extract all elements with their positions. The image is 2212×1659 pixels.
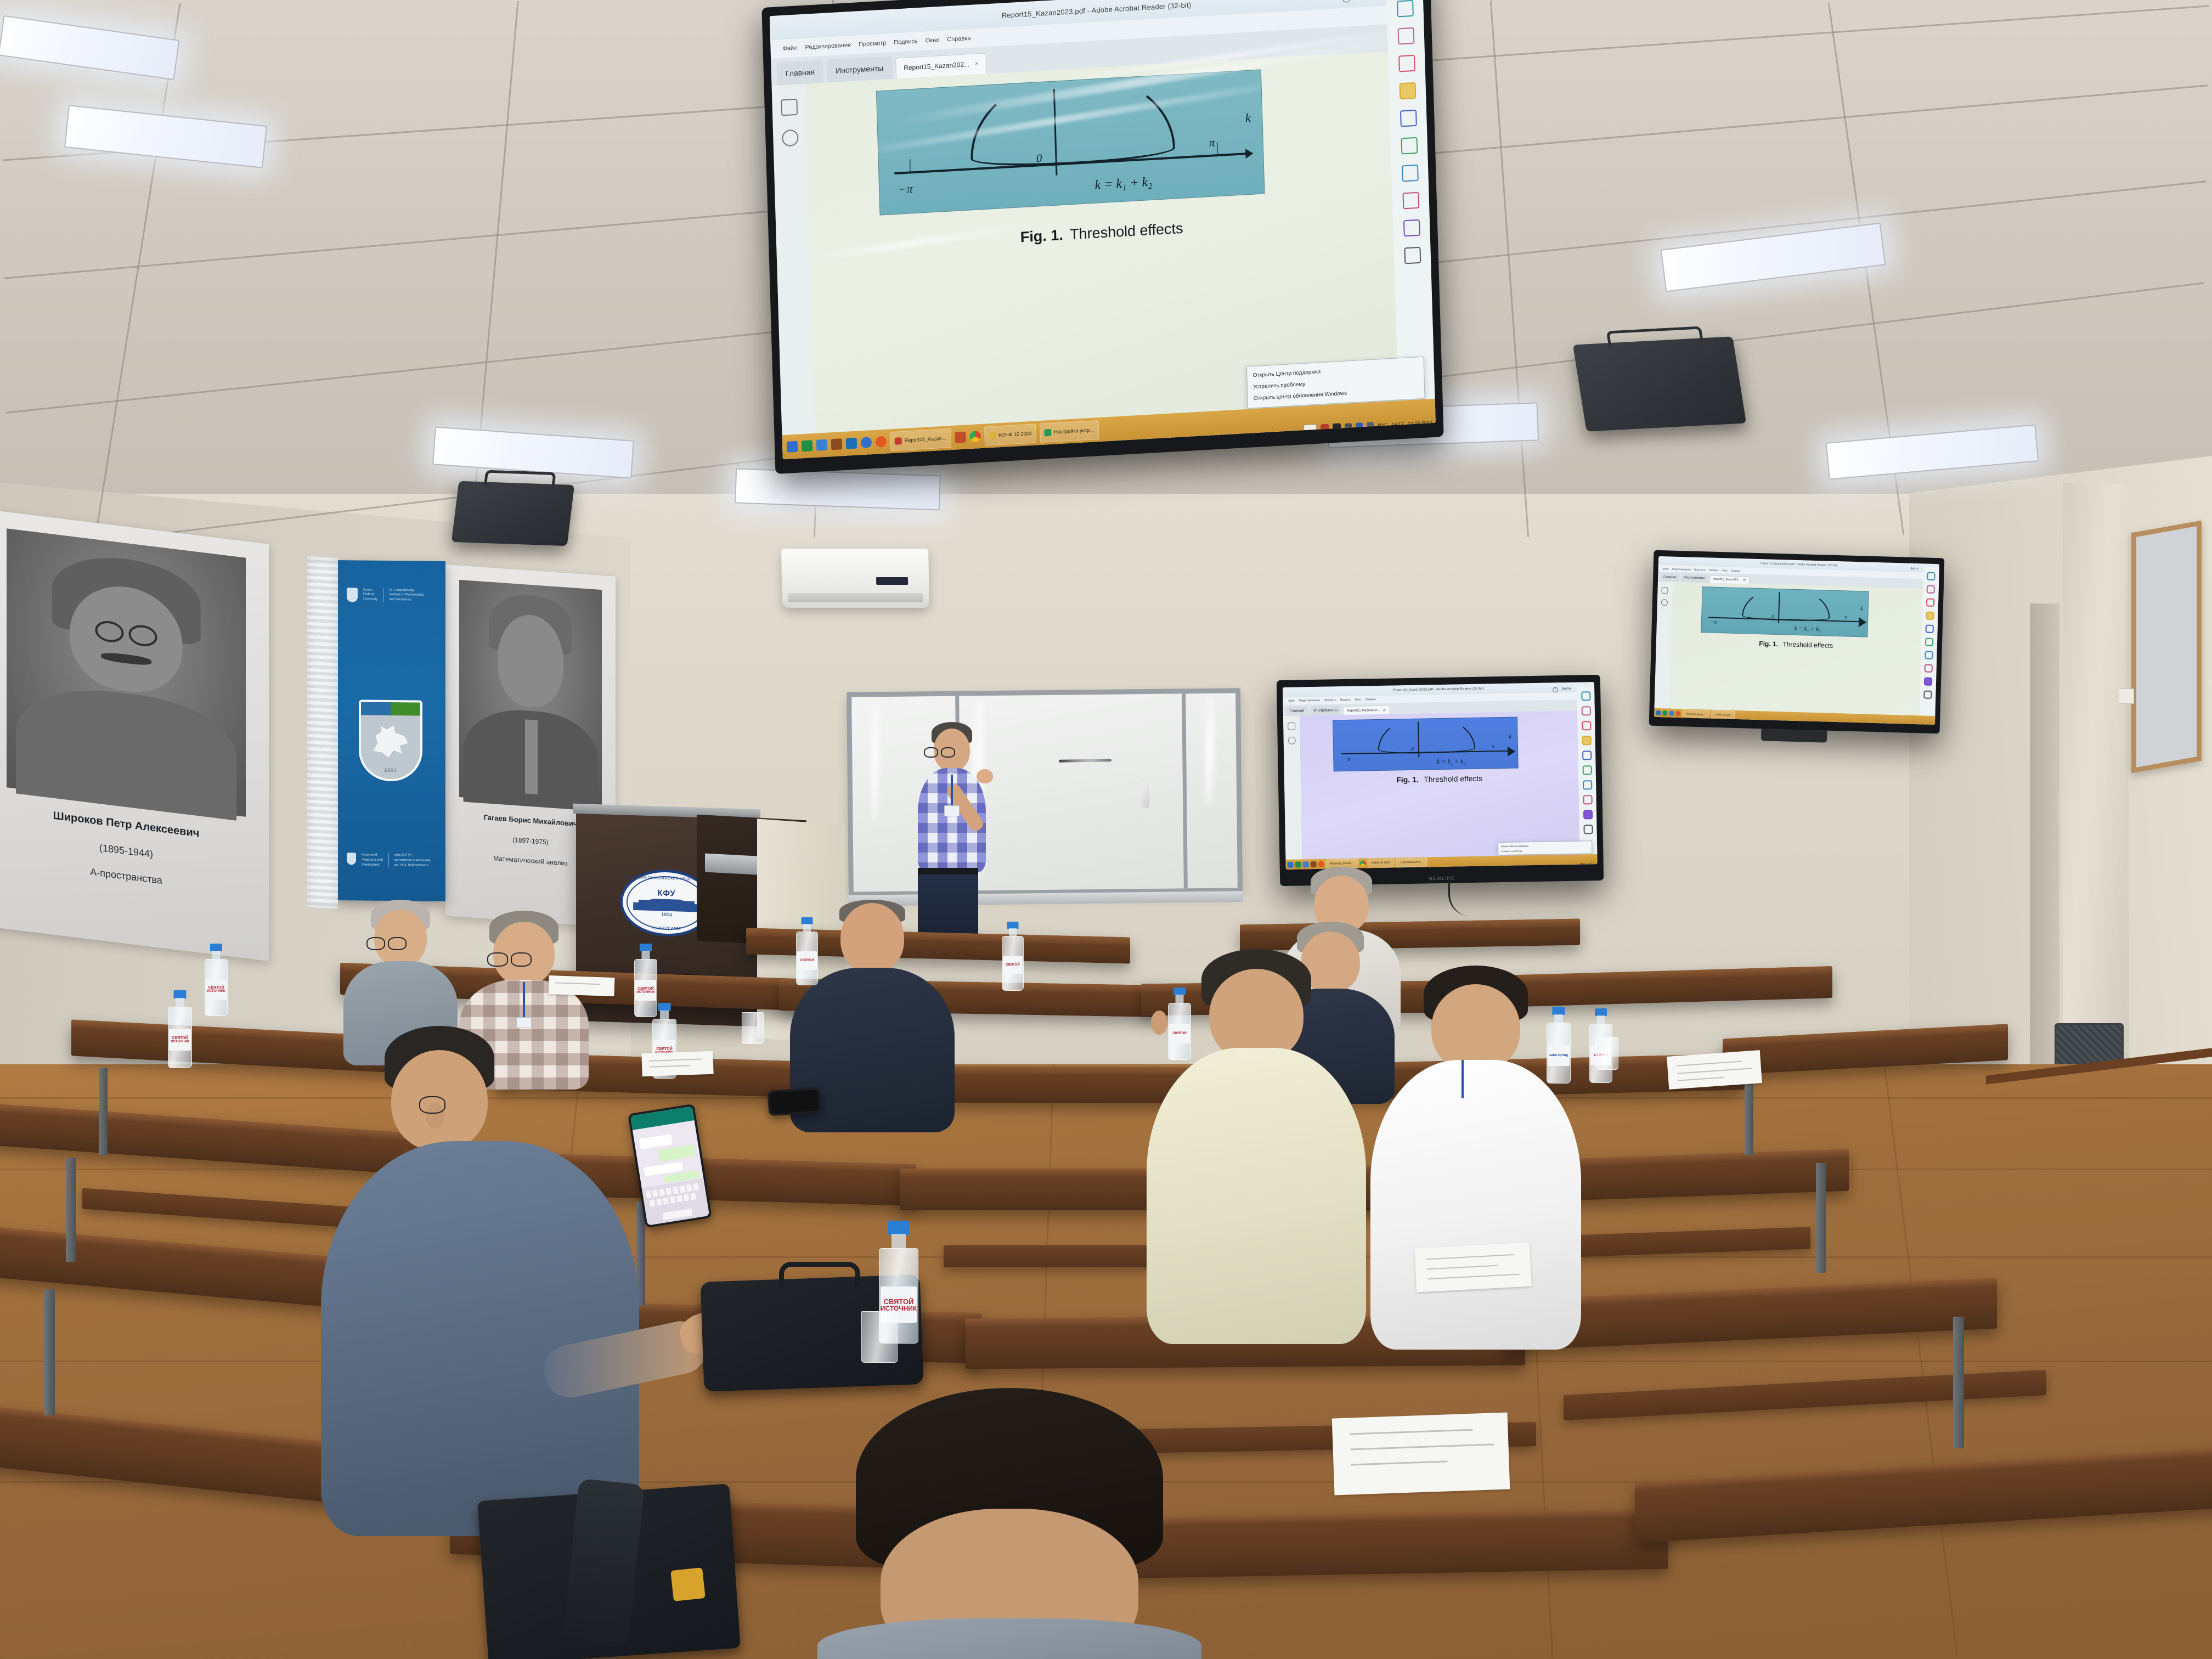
on-screen-keyboard[interactable] <box>642 1178 709 1226</box>
page-thumbnails-icon[interactable] <box>781 99 798 116</box>
water-bottle[interactable]: СВЯТОЙ <box>795 917 819 984</box>
menu-edit[interactable]: Редактирование <box>805 42 851 51</box>
taskbar-pinned-icon[interactable] <box>876 436 887 448</box>
menu-window[interactable]: Окно <box>1722 569 1728 572</box>
menu-view[interactable]: Просмотр <box>1694 568 1706 571</box>
organize-pages-tool-icon[interactable] <box>1927 585 1935 593</box>
figure-caption: Fig. 1. Threshold effects <box>1708 637 1884 652</box>
chart-tick-left: −π <box>898 182 913 196</box>
organize-pages-tool-icon[interactable] <box>1397 27 1414 45</box>
menu-edit[interactable]: Редактирование <box>1672 567 1691 571</box>
chart-curve <box>968 67 1175 170</box>
main-projection-screen: Report15_Kazan2023.pdf - Adobe Acrobat R… <box>761 0 1443 474</box>
menu-help[interactable]: Справка <box>947 35 970 43</box>
bottle-label-en: saint spring <box>1549 1054 1568 1057</box>
balloon-item-troubleshoot[interactable]: Устранить проблему <box>1498 848 1592 854</box>
export-pdf-tool-icon[interactable] <box>1581 691 1590 701</box>
export-pdf-tool-icon[interactable] <box>1397 0 1414 18</box>
figure-caption-text: Threshold effects <box>1424 774 1482 784</box>
menu-view[interactable]: Просмотр <box>1324 699 1336 702</box>
tab-home[interactable]: Главная <box>1660 573 1679 582</box>
chart-curve <box>1742 586 1831 622</box>
taskbar-window-label: Настройка устр… <box>1401 861 1423 865</box>
bottle-label-line1: СВЯТОЙ <box>637 987 654 991</box>
chart-tick-right: π <box>1844 614 1847 619</box>
menu-file[interactable]: Файл <box>1288 699 1295 703</box>
bottle-label-line1: СВЯТОЙ <box>172 1036 188 1040</box>
share-tool-icon[interactable] <box>1925 651 1933 659</box>
chart-tick-origin: 0 <box>1411 747 1414 753</box>
system-tray: 16:17 <box>1926 724 1932 725</box>
tray-clock-time[interactable]: 16:17 <box>1587 862 1594 866</box>
tab-tools[interactable]: Инструменты <box>826 56 892 82</box>
system-tray: РУС 16:17 22.08.2023 <box>1304 422 1432 430</box>
chart-curve <box>1378 715 1476 754</box>
desk-leg <box>1816 1163 1826 1273</box>
system-tray: РУС 16:17 <box>1580 864 1594 864</box>
water-bottle[interactable]: СВЯТОЙ ИСТОЧНИК <box>167 990 193 1067</box>
edit-pdf-tool-icon[interactable] <box>1402 192 1419 210</box>
ceiling-light-fixture <box>735 468 941 510</box>
paper-sheet[interactable] <box>1414 1243 1532 1293</box>
smartphone-on-desk[interactable] <box>768 1087 822 1116</box>
poster-shirokov: Широков Петр Алексеевич (1895-1944) А-пр… <box>0 509 269 961</box>
seal-abbr: КФУ <box>657 888 676 898</box>
taskbar-pinned-icon[interactable] <box>1662 710 1667 715</box>
powerpoint-icon[interactable] <box>955 432 966 443</box>
fill-and-sign-tool-icon[interactable] <box>1582 765 1592 775</box>
taskbar-window-label: КОНФ 10 2023 <box>1716 713 1730 716</box>
start-button[interactable] <box>1656 710 1661 715</box>
bottle-label-line2: ИСТОЧНИК <box>207 990 225 993</box>
chart-tick-left: −π <box>1710 619 1717 625</box>
chart-tick-origin: 0 <box>1771 614 1774 619</box>
desk-leg <box>66 1158 76 1262</box>
scissors-tool-icon[interactable] <box>1923 690 1932 698</box>
chart-tick-right: π <box>1492 743 1494 749</box>
menu-sign[interactable]: Подпись <box>894 38 918 46</box>
tray-clock-time[interactable]: 16:17 <box>1926 723 1932 725</box>
chart-axis-label-k: k <box>1245 111 1251 126</box>
taskbar-pinned-icon[interactable] <box>831 438 843 450</box>
taskbar-pinned-icon[interactable] <box>1675 710 1680 715</box>
sign-in-link[interactable]: Войти <box>1910 567 1918 570</box>
chart-tick-origin: 0 <box>1036 151 1042 166</box>
menu-edit[interactable]: Редактирование <box>1299 699 1320 703</box>
banner-latin-right: N.I. Lobachevsky Institute of Mathematic… <box>389 588 424 603</box>
taskbar-window-device-settings[interactable]: Настройка устр… <box>1396 858 1427 867</box>
phone-screen <box>770 1090 819 1114</box>
taskbar-window-label: КОНФ 10 2023 <box>1372 861 1390 865</box>
laptop-bag-handle <box>779 1262 860 1286</box>
bottle-label-line1: СВЯТОЙ <box>1006 963 1019 967</box>
share-tool-icon[interactable] <box>1583 780 1592 789</box>
drinking-cup[interactable] <box>1596 1037 1618 1070</box>
desk-leg <box>99 1068 108 1155</box>
fill-and-sign-tool-icon[interactable] <box>1925 637 1933 646</box>
close-icon[interactable]: × <box>1383 707 1386 713</box>
measure-tool-icon[interactable] <box>1403 219 1420 237</box>
fill-and-sign-tool-icon[interactable] <box>1401 137 1418 155</box>
paper-sheet[interactable] <box>548 975 614 996</box>
lecture-hall-photo: Широков Петр Алексеевич (1895-1944) А-пр… <box>0 0 2212 1659</box>
figure-caption-prefix: Fig. 1. <box>1396 775 1419 785</box>
taskbar-pinned-icon[interactable] <box>861 437 872 448</box>
menu-help[interactable]: Справка <box>1731 569 1741 572</box>
banner-ru-left: Казанский Федеральный Университет <box>362 853 383 867</box>
acrobat-icon <box>895 437 902 445</box>
menu-window[interactable]: Окно <box>926 37 940 44</box>
combine-files-tool-icon[interactable] <box>1400 110 1417 127</box>
light-switch[interactable] <box>2119 689 2134 704</box>
touch-keyboard-icon[interactable] <box>1304 424 1317 434</box>
tab-tools[interactable]: Инструменты <box>1310 706 1341 715</box>
taskbar-window-device-settings[interactable]: Настройка устр… <box>1040 420 1099 443</box>
menu-sign[interactable]: Подпись <box>1708 568 1718 571</box>
foreground-attendee <box>823 1388 1196 1659</box>
projected-desktop: Report15_Kazan2023.pdf - Adobe Acrobat R… <box>770 0 1436 459</box>
taskbar-pinned-icon[interactable] <box>1669 710 1674 715</box>
zilant-crest-icon: 1804 <box>359 700 422 782</box>
taskbar-pinned-icon[interactable] <box>1311 861 1317 867</box>
menu-file[interactable]: Файл <box>1663 567 1669 570</box>
windows-notification-balloon: Открыть Центр поддержки Устранить пробле… <box>1498 841 1593 856</box>
edit-pdf-tool-icon[interactable] <box>1583 795 1592 804</box>
window-title: Report15_Kazan2023.pdf - Adobe Acrobat R… <box>1760 562 1837 567</box>
taskbar-window-conf-folder[interactable]: КОНФ 10 2023 <box>1367 859 1395 867</box>
desk-leg <box>1953 1317 1964 1448</box>
paper-sheet[interactable] <box>1332 1412 1510 1495</box>
close-icon[interactable]: × <box>1742 577 1746 584</box>
panel-desktop: Report15_Kazan2023.pdf - Adobe Acrobat R… <box>1283 682 1598 870</box>
taskbar-pinned-icon[interactable] <box>802 440 813 452</box>
ceiling-speaker <box>1573 336 1746 431</box>
window-title: Report15_Kazan2023.pdf - Adobe Acrobat R… <box>1001 1 1191 19</box>
pdf-page: −π 0 π k k = k₁ + k₂ Fig. 1. Threshold e… <box>1669 582 1923 725</box>
bottle-label-line1: СВЯТОЙ <box>800 959 814 962</box>
folder-icon <box>989 432 996 439</box>
taskbar-pinned-icon[interactable] <box>816 439 828 451</box>
bottle-label-line1: СВЯТОЙ <box>1172 1032 1186 1035</box>
taskbar-window-label: Report15_Kazan… <box>905 436 947 443</box>
document-tab[interactable]: Report15_Kazan202... × <box>1343 706 1390 715</box>
figure-caption-prefix: Fig. 1. <box>1759 640 1778 648</box>
bottle-label-line2: ИСТОЧНИК <box>881 1305 917 1312</box>
page-thumbnails-icon[interactable] <box>1662 587 1668 594</box>
bottle-label-line1: СВЯТОЙ <box>656 1047 673 1051</box>
taskbar-window-conf-folder[interactable]: КОНФ 10 2023 <box>984 424 1036 445</box>
ceiling-speaker <box>452 481 574 546</box>
seal-year: 1804 <box>661 911 672 917</box>
taskbar-pinned-icon[interactable] <box>1318 861 1324 867</box>
figure-caption: Fig. 1. Threshold effects <box>898 213 1306 253</box>
taskbar-window-label: Report15_Kazan… <box>1686 712 1705 715</box>
attendee-blue-shirt <box>321 1141 639 1536</box>
attachments-icon[interactable] <box>1661 599 1668 606</box>
tv-wall-mount <box>1761 729 1827 742</box>
chrome-icon[interactable] <box>1359 860 1365 866</box>
figure-plot: −π 0 π k k = k₁ + k₂ <box>1701 587 1869 637</box>
whiteboard-eraser[interactable] <box>1141 782 1150 808</box>
bottle-label-line2: ИСТОЧНИК <box>636 991 654 994</box>
window-title: Report15_Kazan2023.pdf - Adobe Acrobat R… <box>1393 687 1484 692</box>
banner-ru-right: ИНСТИТУТ математики и механики им. Н.И. … <box>394 853 431 868</box>
window-blind <box>307 556 338 909</box>
scissors-tool-icon[interactable] <box>1404 247 1421 264</box>
taskbar-window-label: Report15_Kazan… <box>1330 862 1354 866</box>
taskbar-window-acrobat[interactable]: Report15_Kazan… <box>890 428 951 451</box>
chart-axis-label-k: k <box>1860 606 1863 612</box>
tab-home[interactable]: Главная <box>1286 706 1308 716</box>
menu-sign[interactable]: Подпись <box>1340 698 1351 702</box>
chart-formula: k = k₁ + k₂ <box>1795 625 1821 633</box>
scissors-tool-icon[interactable] <box>1583 825 1593 834</box>
attachments-icon[interactable] <box>782 129 799 147</box>
attendee-cream-shirt <box>1147 1048 1366 1344</box>
drinking-cup[interactable] <box>742 1012 764 1044</box>
tv-desktop: Report15_Kazan2023.pdf - Adobe Acrobat R… <box>1654 556 1939 725</box>
water-bottle[interactable]: СВЯТОЙ ИСТОЧНИК <box>204 944 228 1015</box>
share-tool-icon[interactable] <box>1402 165 1419 182</box>
settings-icon <box>1044 428 1051 436</box>
wall-mounted-frame <box>2131 521 2202 774</box>
export-pdf-tool-icon[interactable] <box>1927 572 1935 580</box>
drinking-cup[interactable] <box>861 1311 898 1363</box>
taskbar-window-label: Настройка устр… <box>1054 427 1094 435</box>
display-icon[interactable] <box>1333 424 1341 432</box>
interactive-whiteboard-panel[interactable]: Report15_Kazan2023.pdf - Adobe Acrobat R… <box>1277 675 1604 886</box>
kfu-banner: Kazan Federal University N.I. Lobachevsk… <box>336 560 445 901</box>
right-tool-rail <box>1577 686 1597 865</box>
whiteboard <box>847 688 1243 896</box>
bottle-label-line2: ИСТОЧНИК <box>171 1040 189 1043</box>
combine-files-tool-icon[interactable] <box>1582 751 1592 760</box>
wall-tv-monitor[interactable]: Report15_Kazan2023.pdf - Adobe Acrobat R… <box>1649 550 1945 734</box>
tab-home[interactable]: Главная <box>776 60 823 85</box>
figure-caption-text: Threshold effects <box>1782 640 1833 650</box>
chat-bubble-incoming <box>639 1134 673 1149</box>
combine-files-tool-icon[interactable] <box>1926 624 1934 633</box>
bluetooth-icon[interactable] <box>1356 422 1363 430</box>
measure-tool-icon[interactable] <box>1583 810 1593 819</box>
desk-leg <box>44 1289 55 1415</box>
left-rail <box>1283 716 1302 870</box>
start-button[interactable] <box>787 441 798 453</box>
tray-clock-time[interactable]: 16:17 <box>1391 421 1404 427</box>
sign-in-label: Войти <box>1910 567 1918 570</box>
network-icon[interactable] <box>1345 424 1352 431</box>
sign-in-link[interactable]: ? Войти <box>1553 686 1571 692</box>
paper-sheet[interactable] <box>641 1051 713 1077</box>
presenter-badge <box>944 805 960 816</box>
presenter-hand <box>977 769 993 783</box>
chat-bubble-outgoing <box>658 1144 696 1161</box>
volume-muted-icon[interactable] <box>1321 424 1329 433</box>
comment-tool-icon[interactable] <box>1399 82 1416 100</box>
bottle-label-line1: СВЯТОЙ <box>884 1298 914 1305</box>
sign-in-label: Войти <box>1357 0 1374 1</box>
help-icon[interactable]: ? <box>1553 687 1558 692</box>
backpack-badge <box>670 1567 706 1601</box>
chart-tick-left: −π <box>1343 756 1350 763</box>
water-bottle[interactable]: СВЯТОЙ <box>1167 988 1192 1059</box>
water-bottle[interactable]: СВЯТОЙ <box>1001 922 1024 990</box>
create-pdf-tool-icon[interactable] <box>1398 55 1415 72</box>
measure-tool-icon[interactable] <box>1924 677 1932 685</box>
air-conditioner <box>781 549 929 608</box>
close-icon[interactable]: × <box>975 61 979 67</box>
crest-year: 1804 <box>361 767 420 773</box>
create-pdf-tool-icon[interactable] <box>1582 721 1591 730</box>
comment-tool-icon[interactable] <box>1926 611 1934 619</box>
document-tab-label: Report15_Kazan202... <box>904 61 969 72</box>
figure-plot: −π 0 π k k = k₁ + k₂ <box>876 70 1265 216</box>
figure-caption-prefix: Fig. 1. <box>1020 227 1063 245</box>
tray-language[interactable]: РУС <box>1580 862 1585 866</box>
figure-plot: −π 0 π k k = k₁ + k₂ <box>1333 716 1518 771</box>
figure-caption-text: Threshold effects <box>1070 220 1183 243</box>
menu-help[interactable]: Справка <box>1365 698 1376 701</box>
figure-caption: Fig. 1. Threshold effects <box>1342 773 1537 786</box>
chart-tick-right: π <box>1209 136 1215 150</box>
document-tab-label: Report15_Kazan202... <box>1347 708 1380 712</box>
water-bottle[interactable]: saint spring <box>1546 1007 1571 1082</box>
document-tab-label: Report15_Kazan202... <box>1713 578 1740 582</box>
attendee-white-shirt <box>1370 1060 1581 1350</box>
taskbar-pinned-icon[interactable] <box>846 438 857 449</box>
edit-pdf-tool-icon[interactable] <box>1925 664 1933 672</box>
menu-window[interactable]: Окно <box>1355 698 1361 702</box>
menu-view[interactable]: Просмотр <box>859 40 887 48</box>
taskbar-window-acrobat[interactable]: Report15_Kazan… <box>1682 709 1709 718</box>
tab-tools[interactable]: Инструменты <box>1681 574 1708 583</box>
taskbar-window-conf-folder[interactable]: КОНФ 10 2023 <box>1711 710 1735 719</box>
page-thumbnails-icon[interactable] <box>1288 723 1295 730</box>
bottle-label-line1: СВЯТОЙ <box>208 986 224 990</box>
comment-tool-icon[interactable] <box>1582 736 1591 745</box>
action-center-icon[interactable] <box>1367 422 1374 430</box>
sign-in-label: Войти <box>1562 687 1571 690</box>
kfu-shield-icon <box>347 588 358 602</box>
menu-file[interactable]: Файл <box>782 45 797 53</box>
taskbar-window-label: КОНФ 10 2023 <box>998 431 1032 438</box>
chart-axis-label-k: k <box>1509 733 1511 740</box>
presenter-belt <box>918 868 978 874</box>
paper-sheet[interactable] <box>1667 1050 1762 1090</box>
chrome-icon[interactable] <box>969 431 981 442</box>
create-pdf-tool-icon[interactable] <box>1926 598 1934 606</box>
chart-formula: k = k₁ + k₂ <box>1094 175 1153 193</box>
attachments-icon[interactable] <box>1288 737 1295 744</box>
tray-clock-date[interactable]: 22.08.2023 <box>1408 420 1432 427</box>
chart-formula: k = k₁ + k₂ <box>1437 757 1466 766</box>
tray-language[interactable]: РУС <box>1378 422 1387 428</box>
organize-pages-tool-icon[interactable] <box>1581 706 1590 715</box>
banner-latin-left: Kazan Federal University <box>363 588 377 602</box>
kfu-shield-icon <box>347 853 356 865</box>
